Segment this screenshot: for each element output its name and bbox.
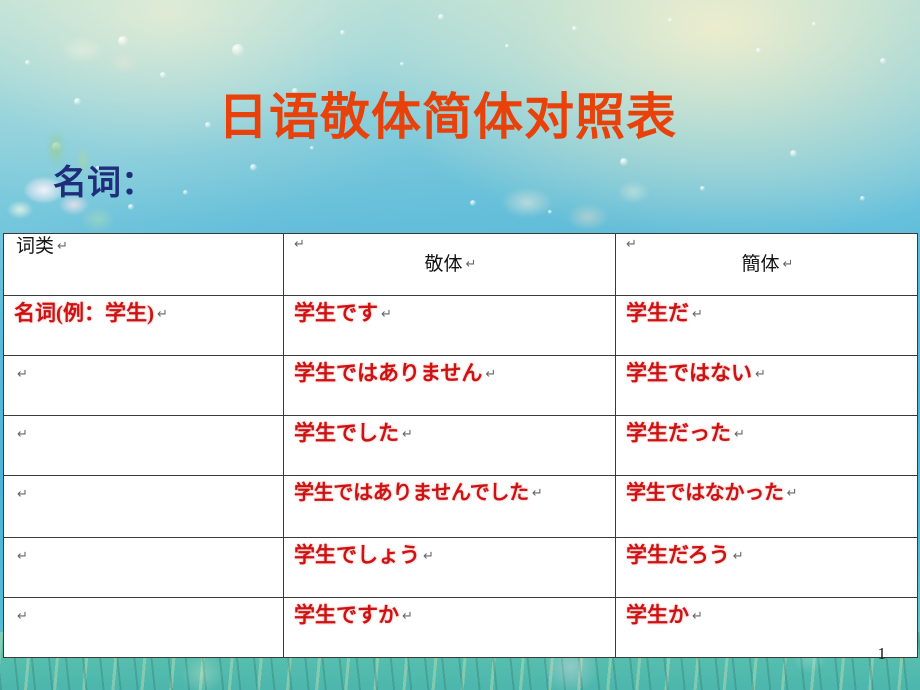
paragraph-mark-icon: ↵	[402, 426, 413, 441]
paragraph-mark-icon: ↵	[402, 608, 413, 623]
slide-title: 日语敬体简体对照表	[218, 77, 677, 149]
table-header-cell-polite: ↵ 敬体↵	[284, 234, 616, 296]
paragraph-mark-icon: ↵	[466, 256, 477, 271]
header-text-plain: 簡体	[742, 254, 780, 275]
table-row: 名词(例：学生)↵ 学生です↵ 学生だ↵	[4, 296, 918, 356]
cell-plain-form: 学生か↵	[616, 598, 918, 658]
table-header-row: ↵ 词类↵ ↵ 敬体↵ ↵ 簡体↵	[4, 234, 918, 296]
polite-form-text: 学生でした	[294, 421, 399, 445]
cell-word-class: ↵	[4, 416, 284, 476]
cell-word-class: ↵	[4, 538, 284, 598]
header-text-word-class: 词类	[16, 236, 54, 257]
paragraph-mark-icon: ↵	[17, 366, 28, 381]
table-row: ↵ 学生でしょう↵ 学生だろう↵	[4, 538, 918, 598]
paragraph-mark-icon: ↵	[733, 548, 744, 563]
paragraph-mark-icon: ↵	[692, 608, 703, 623]
cell-word-class: ↵	[4, 356, 284, 416]
table-header-label-word-class: 词类↵	[16, 233, 275, 260]
paragraph-mark-icon: ↵	[17, 548, 28, 563]
cell-polite-form: 学生でしょう↵	[284, 538, 616, 598]
cell-plain-form: 学生だった↵	[616, 416, 918, 476]
cell-plain-form: 学生だ↵	[616, 296, 918, 356]
polite-form-text: 学生ではありませんでした	[294, 482, 529, 504]
paragraph-mark-icon: ↵	[783, 256, 794, 271]
paragraph-mark-icon: ↵	[17, 486, 28, 501]
table-header-label-plain: 簡体↵	[626, 251, 909, 278]
polite-form-text: 学生ですか	[294, 603, 399, 627]
paragraph-mark-icon: ↵	[17, 608, 28, 623]
page-number: 1	[878, 644, 887, 664]
table-row: ↵ 学生ではありませんでした↵ 学生ではなかった↵	[4, 476, 918, 538]
plain-form-text: 学生ではなかった	[626, 482, 784, 504]
cell-word-class: ↵	[4, 476, 284, 538]
paragraph-mark-icon: ↵	[485, 366, 496, 381]
paragraph-mark-icon: ↵	[381, 306, 392, 321]
conjugation-table: ↵ 词类↵ ↵ 敬体↵ ↵ 簡体↵ 名词(例：学生)↵ 学生です↵	[3, 233, 918, 658]
table-header-cell-word-class: ↵ 词类↵	[4, 234, 284, 296]
cell-polite-form: 学生です↵	[284, 296, 616, 356]
cell-plain-form: 学生だろう↵	[616, 538, 918, 598]
paragraph-mark-icon: ↵	[626, 237, 909, 251]
paragraph-mark-icon: ↵	[157, 306, 168, 321]
presentation-slide: 日语敬体简体对照表 名词： ↵ 词类↵ ↵ 敬体↵ ↵ 簡体↵	[0, 0, 920, 690]
plain-form-text: 学生だった	[626, 421, 731, 445]
cell-plain-form: 学生ではなかった↵	[616, 476, 918, 538]
paragraph-mark-icon: ↵	[17, 426, 28, 441]
slide-subtitle: 名词：	[53, 155, 155, 204]
cell-plain-form: 学生ではない↵	[616, 356, 918, 416]
cell-polite-form: 学生ではありませんでした↵	[284, 476, 616, 538]
cell-polite-form: 学生でした↵	[284, 416, 616, 476]
cell-word-class: 名词(例：学生)↵	[4, 296, 284, 356]
paragraph-mark-icon: ↵	[294, 237, 607, 251]
cell-word-class: ↵	[4, 598, 284, 658]
word-class-text: 名词(例：学生)	[14, 301, 154, 325]
paragraph-mark-icon: ↵	[532, 485, 543, 500]
table-row: ↵ 学生でした↵ 学生だった↵	[4, 416, 918, 476]
table-row: ↵ 学生ではありません↵ 学生ではない↵	[4, 356, 918, 416]
paragraph-mark-icon: ↵	[787, 485, 798, 500]
table-row: ↵ 学生ですか↵ 学生か↵	[4, 598, 918, 658]
cell-polite-form: 学生ですか↵	[284, 598, 616, 658]
plain-form-text: 学生だろう	[626, 543, 730, 567]
cell-polite-form: 学生ではありません↵	[284, 356, 616, 416]
polite-form-text: 学生ではありません	[294, 361, 482, 385]
paragraph-mark-icon: ↵	[734, 426, 745, 441]
table-header-cell-plain: ↵ 簡体↵	[616, 234, 918, 296]
header-text-polite: 敬体	[425, 254, 463, 275]
plain-form-text: 学生か	[626, 603, 689, 627]
plain-form-text: 学生だ	[626, 301, 689, 325]
polite-form-text: 学生です	[294, 301, 378, 325]
paragraph-mark-icon: ↵	[755, 366, 766, 381]
paragraph-mark-icon: ↵	[57, 238, 68, 253]
plain-form-text: 学生ではない	[626, 361, 752, 385]
paragraph-mark-icon: ↵	[423, 548, 434, 563]
polite-form-text: 学生でしょう	[294, 543, 420, 567]
table-header-label-polite: 敬体↵	[294, 251, 607, 278]
paragraph-mark-icon: ↵	[692, 306, 703, 321]
